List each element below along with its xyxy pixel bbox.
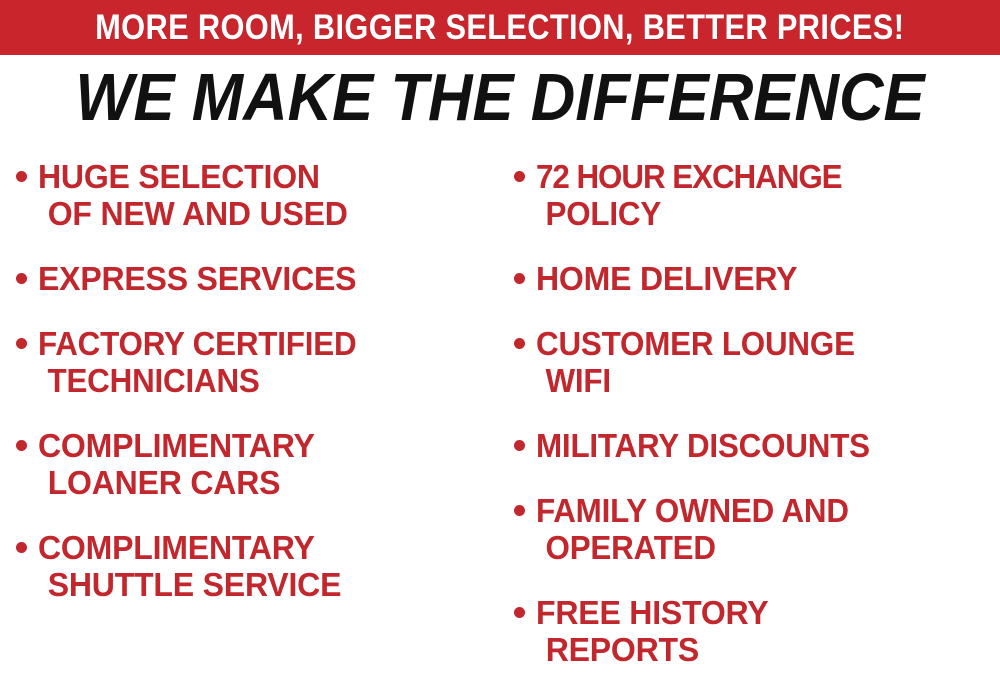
benefit-line-1: CUSTOMER LOUNGE — [536, 325, 855, 362]
benefit-line-2: POLICY — [536, 195, 842, 232]
bullet-dot-icon — [514, 440, 525, 451]
benefit-text: HUGE SELECTION OF NEW AND USED — [38, 158, 348, 232]
benefit-text: EXPRESS SERVICES — [38, 260, 356, 297]
top-red-banner: MORE ROOM, BIGGER SELECTION, BETTER PRIC… — [0, 0, 1000, 55]
bullet-dot-icon — [16, 171, 27, 182]
top-banner-headline: MORE ROOM, BIGGER SELECTION, BETTER PRIC… — [95, 10, 904, 45]
benefit-line-1: FAMILY OWNED AND — [536, 492, 849, 529]
benefit-text: 72 HOUR EXCHANGE POLICY — [536, 158, 842, 232]
list-item: 72 HOUR EXCHANGE POLICY — [514, 158, 996, 232]
benefit-line-2: REPORTS — [536, 631, 768, 668]
benefit-line-1: HUGE SELECTION — [38, 158, 320, 195]
list-item: COMPLIMENTARY LOANER CARS — [16, 427, 492, 501]
list-item: COMPLIMENTARY SHUTTLE SERVICE — [16, 529, 492, 603]
benefit-text: COMPLIMENTARY SHUTTLE SERVICE — [38, 529, 341, 603]
bullet-dot-icon — [514, 505, 525, 516]
bullet-dot-icon — [16, 440, 27, 451]
bullet-dot-icon — [514, 273, 525, 284]
list-item: CUSTOMER LOUNGE WIFI — [514, 325, 996, 399]
benefit-text: COMPLIMENTARY LOANER CARS — [38, 427, 315, 501]
bullet-dot-icon — [514, 607, 525, 618]
bullet-dot-icon — [16, 273, 27, 284]
benefit-line-1: HOME DELIVERY — [536, 260, 797, 297]
list-item: MILITARY DISCOUNTS — [514, 427, 996, 464]
benefit-line-1: COMPLIMENTARY — [38, 427, 315, 464]
list-item: FAMILY OWNED AND OPERATED — [514, 492, 996, 566]
benefit-line-1: 72 HOUR EXCHANGE — [536, 158, 842, 195]
benefits-columns: HUGE SELECTION OF NEW AND USED EXPRESS S… — [0, 158, 1000, 694]
benefit-text: MILITARY DISCOUNTS — [536, 427, 870, 464]
benefit-text: FACTORY CERTIFIED TECHNICIANS — [38, 325, 356, 399]
list-item: EXPRESS SERVICES — [16, 260, 492, 297]
list-item: HUGE SELECTION OF NEW AND USED — [16, 158, 492, 232]
benefit-line-2: SHUTTLE SERVICE — [38, 566, 341, 603]
benefit-text: HOME DELIVERY — [536, 260, 797, 297]
bullet-dot-icon — [16, 338, 27, 349]
list-item: HOME DELIVERY — [514, 260, 996, 297]
benefit-line-2: TECHNICIANS — [38, 362, 356, 399]
benefit-line-1: COMPLIMENTARY — [38, 529, 315, 566]
benefit-line-2: WIFI — [536, 362, 855, 399]
benefit-text: FAMILY OWNED AND OPERATED — [536, 492, 849, 566]
benefit-line-2: LOANER CARS — [38, 464, 315, 501]
list-item: FACTORY CERTIFIED TECHNICIANS — [16, 325, 492, 399]
bullet-dot-icon — [514, 338, 525, 349]
benefit-line-1: FACTORY CERTIFIED — [38, 325, 356, 362]
benefit-text: CUSTOMER LOUNGE WIFI — [536, 325, 855, 399]
benefit-line-1: FREE HISTORY — [536, 594, 768, 631]
promo-banner: MORE ROOM, BIGGER SELECTION, BETTER PRIC… — [0, 0, 1000, 694]
benefit-line-1: MILITARY DISCOUNTS — [536, 427, 870, 464]
benefits-column-left: HUGE SELECTION OF NEW AND USED EXPRESS S… — [0, 158, 500, 603]
benefit-line-1: EXPRESS SERVICES — [38, 260, 356, 297]
benefits-column-right: 72 HOUR EXCHANGE POLICY HOME DELIVERY CU… — [500, 158, 1000, 668]
benefit-text: FREE HISTORY REPORTS — [536, 594, 768, 668]
benefit-line-2: OF NEW AND USED — [38, 195, 348, 232]
bullet-dot-icon — [514, 171, 525, 182]
bullet-dot-icon — [16, 542, 27, 553]
page-title: WE MAKE THE DIFFERENCE — [40, 62, 960, 134]
list-item: FREE HISTORY REPORTS — [514, 594, 996, 668]
benefit-line-2: OPERATED — [536, 529, 849, 566]
